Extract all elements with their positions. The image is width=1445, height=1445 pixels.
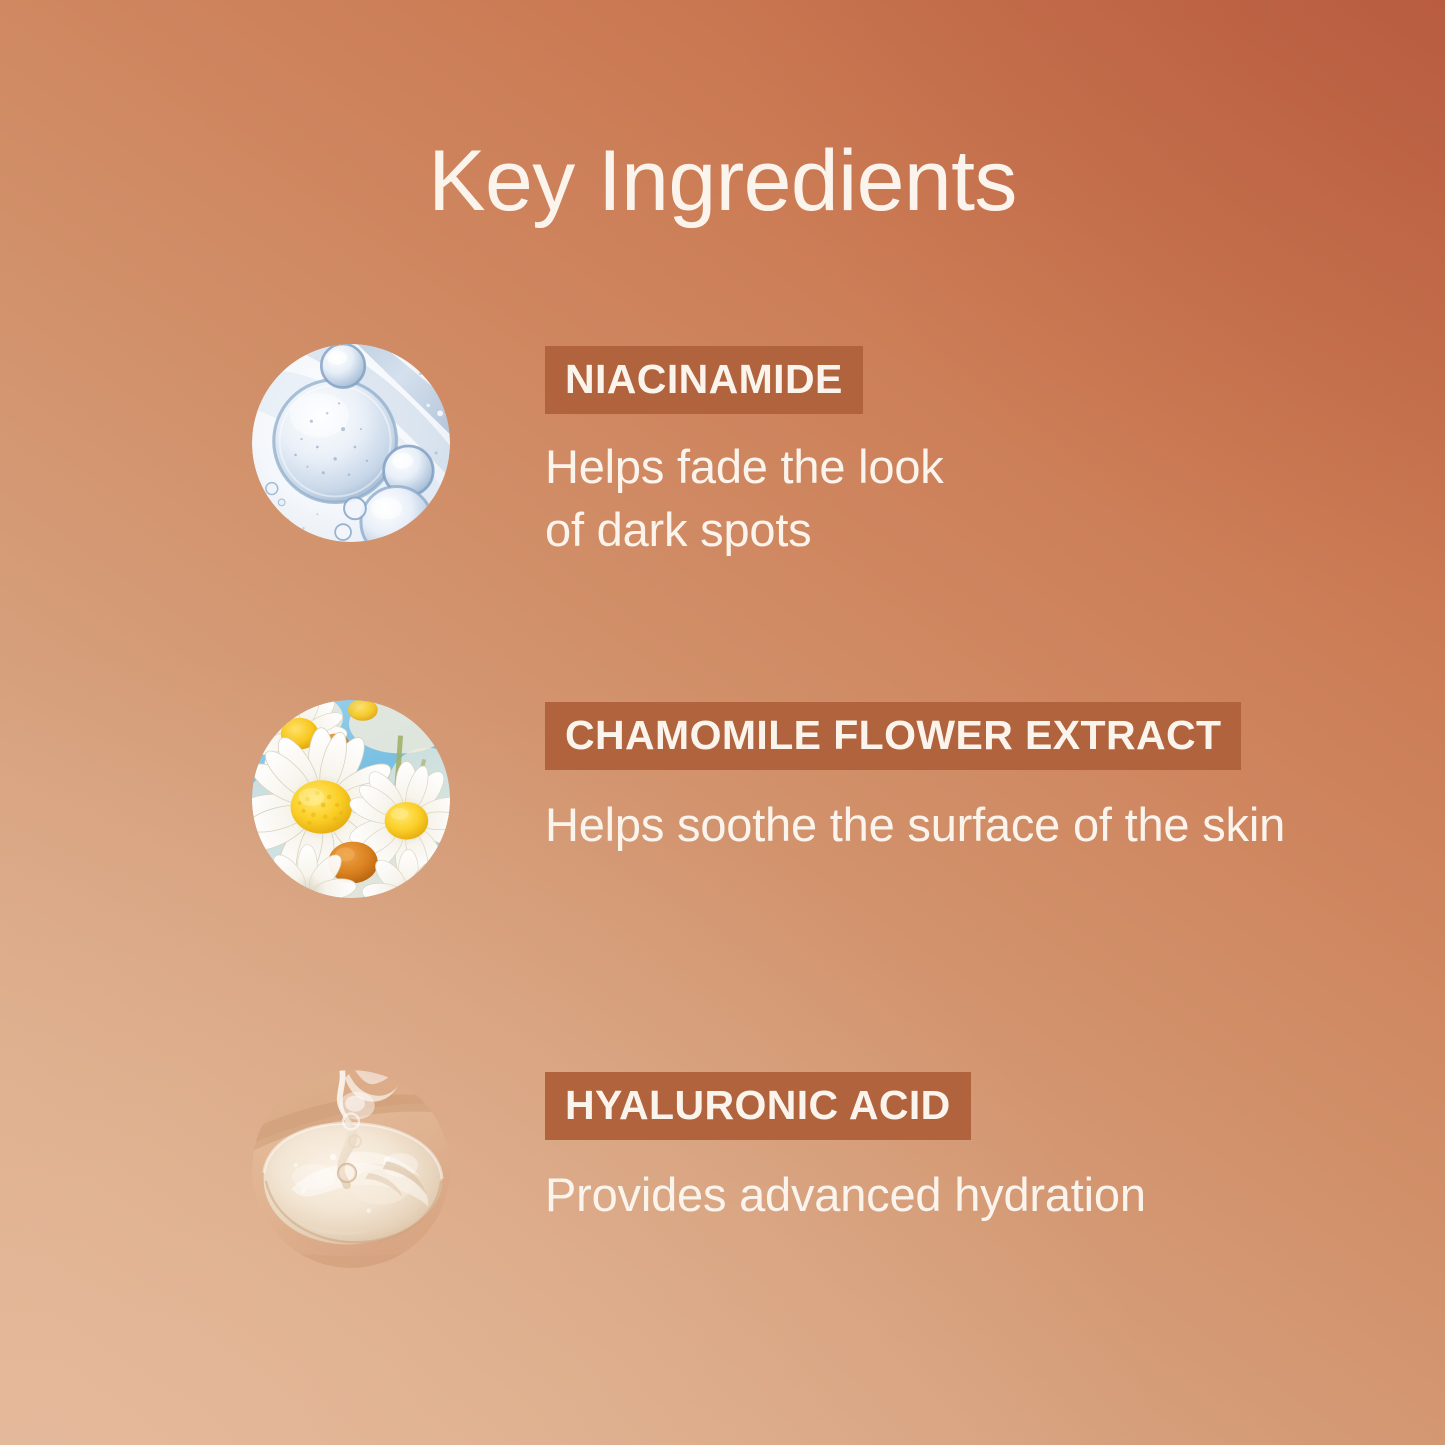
ingredient-thumbnail-wrap — [0, 1070, 450, 1268]
ingredient-row-hyaluronic-acid: HYALURONIC ACID Provides advanced hydrat… — [0, 1070, 1146, 1268]
ingredient-name-badge: NIACINAMIDE — [545, 346, 863, 414]
ingredient-text-column: HYALURONIC ACID Provides advanced hydrat… — [450, 1070, 1146, 1227]
ingredient-text-column: CHAMOMILE FLOWER EXTRACT Helps soothe th… — [450, 700, 1285, 857]
ingredient-thumbnail-wrap — [0, 344, 450, 542]
ingredient-row-chamomile: CHAMOMILE FLOWER EXTRACT Helps soothe th… — [0, 700, 1285, 898]
ingredient-description: Provides advanced hydration — [545, 1164, 1146, 1227]
ingredient-description: Helps fade the look of dark spots — [545, 436, 944, 561]
chamomile-flowers-image — [252, 700, 450, 898]
ingredient-name-badge: HYALURONIC ACID — [545, 1072, 971, 1140]
water-bubbles-macro-image — [252, 344, 450, 542]
clear-gel-droplet-image — [252, 1070, 450, 1268]
ingredient-name-badge: CHAMOMILE FLOWER EXTRACT — [545, 702, 1241, 770]
ingredient-description: Helps soothe the surface of the skin — [545, 794, 1285, 857]
ingredient-text-column: NIACINAMIDE Helps fade the look of dark … — [450, 344, 944, 561]
key-ingredients-infographic: Key Ingredients — [0, 0, 1445, 1445]
page-title: Key Ingredients — [0, 136, 1445, 227]
ingredient-row-niacinamide: NIACINAMIDE Helps fade the look of dark … — [0, 344, 944, 561]
ingredient-thumbnail-wrap — [0, 700, 450, 898]
